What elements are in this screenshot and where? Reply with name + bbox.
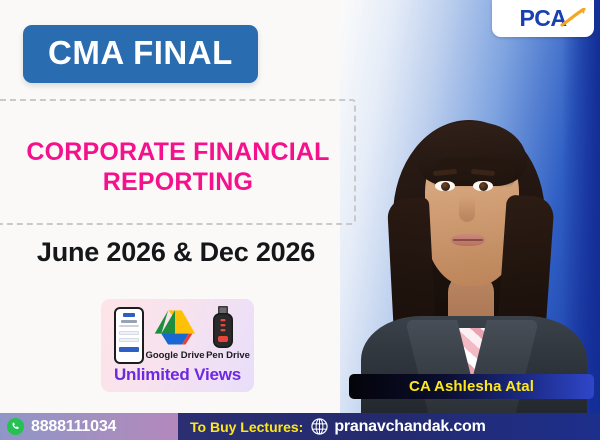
- eye-left: [435, 181, 455, 191]
- hair-front: [417, 122, 527, 186]
- promo-poster: PCA CMA FINAL CORPORATE FINANCIAL REPORT…: [0, 0, 600, 440]
- unlimited-views-label: Unlimited Views: [101, 365, 254, 385]
- pen-drive-label: Pen Drive: [205, 350, 251, 361]
- buy-lectures-label: To Buy Lectures:: [190, 419, 303, 435]
- footer-website-section[interactable]: To Buy Lectures: pranavchandak.com: [178, 413, 600, 440]
- faculty-portrait: [355, 78, 600, 413]
- eye-right: [473, 181, 493, 191]
- course-level-badge: CMA FINAL: [23, 25, 258, 83]
- lips: [451, 234, 485, 246]
- nose: [459, 196, 475, 222]
- google-drive-label: Google Drive: [141, 350, 209, 361]
- phone-glyph: [10, 421, 21, 432]
- subject-title: CORPORATE FINANCIAL REPORTING: [0, 138, 356, 197]
- website-url[interactable]: pranavchandak.com: [334, 418, 485, 436]
- contact-phone-number[interactable]: 8888111034: [31, 418, 116, 436]
- phone-subtitle-line: [119, 325, 139, 327]
- faculty-name: CA Ashlesha Atal: [409, 378, 534, 395]
- footer-contact-section[interactable]: 8888111034: [0, 413, 178, 440]
- attempt-line: June 2026 & Dec 2026: [0, 237, 352, 268]
- mobile-app-icon: [114, 307, 144, 364]
- swoosh-icon: [560, 8, 586, 30]
- pen-drive-icon: [211, 306, 235, 349]
- delivery-options-card: Google Drive Pen Drive Unlimited Views: [101, 299, 254, 392]
- pca-logo[interactable]: PCA: [492, 0, 594, 37]
- phone-login-button: [119, 347, 139, 352]
- phone-title-line: [121, 320, 137, 323]
- globe-icon: [311, 418, 328, 435]
- phone-screen: [116, 309, 142, 362]
- phone-input-password: [119, 338, 139, 342]
- phone-input-username: [119, 331, 139, 335]
- whatsapp-icon[interactable]: [7, 418, 24, 435]
- faculty-name-bar: CA Ashlesha Atal: [349, 374, 594, 399]
- google-drive-icon: [154, 308, 196, 346]
- footer-bar: 8888111034 To Buy Lectures: pranavchanda…: [0, 413, 600, 440]
- phone-logo: [123, 313, 135, 317]
